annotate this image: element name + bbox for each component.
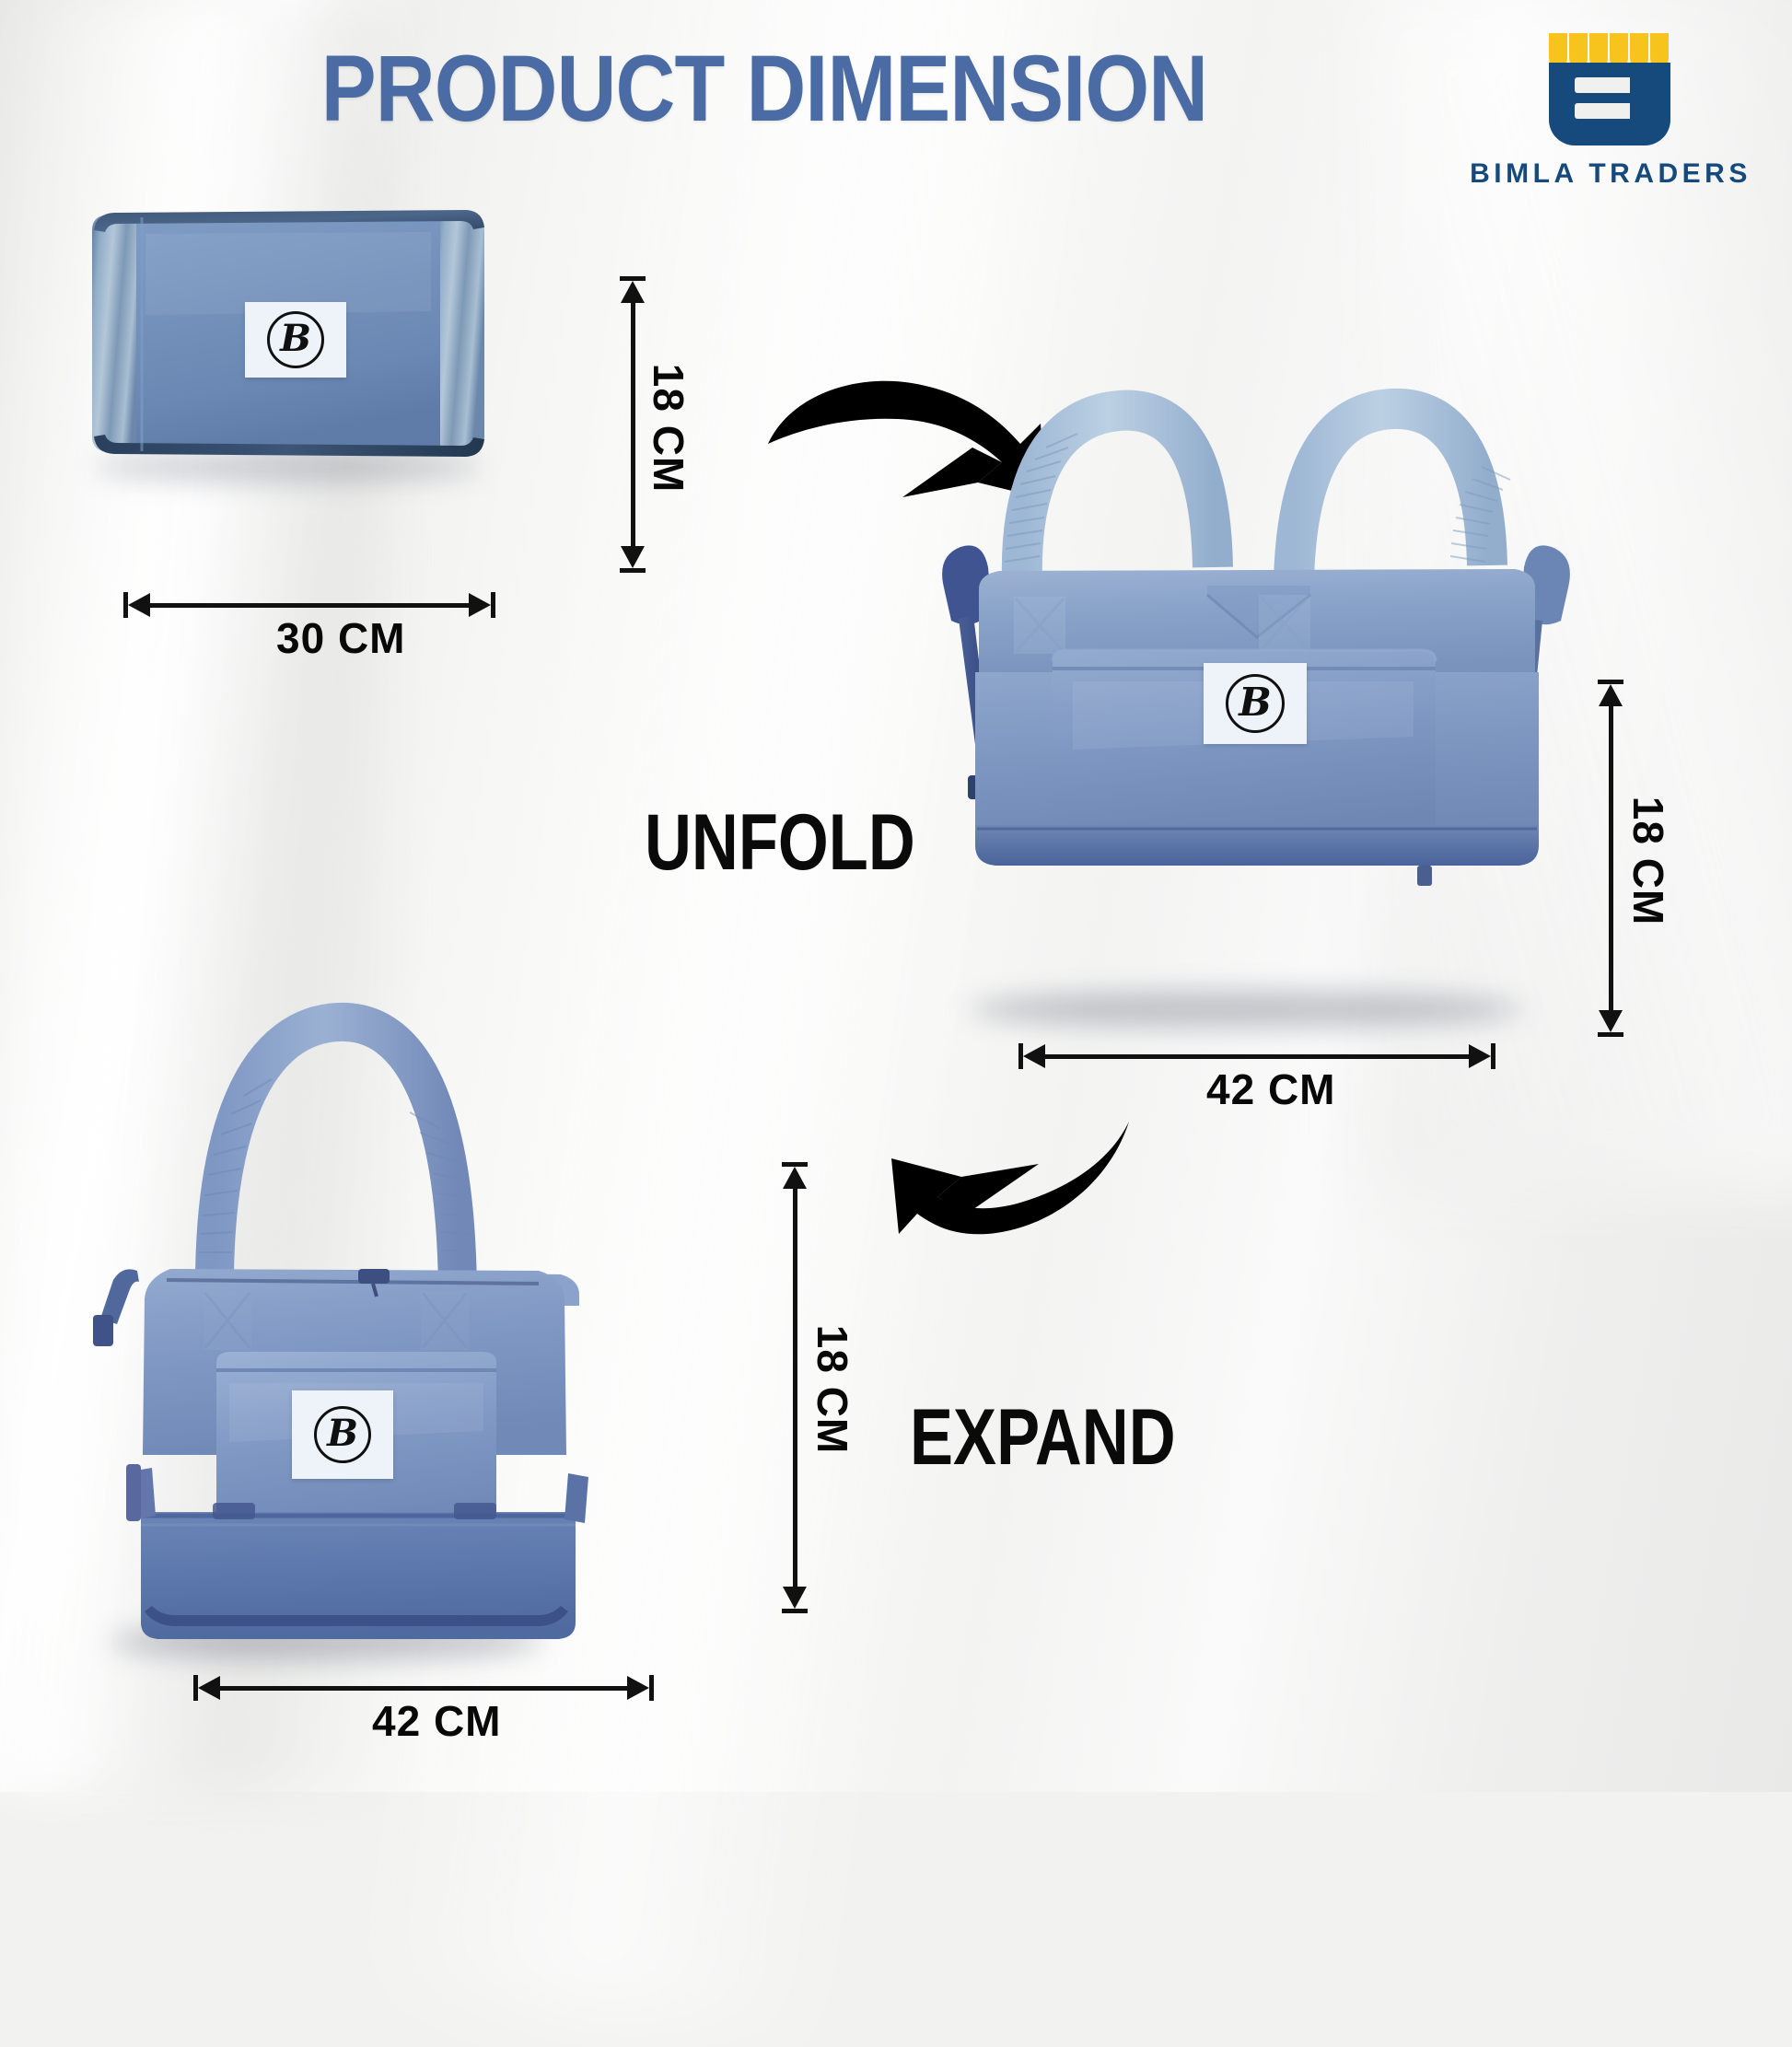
dimension-line-folded-height (619, 276, 646, 573)
brand-label-patch: B (292, 1390, 393, 1479)
label-monogram: B (1239, 683, 1272, 722)
brand-name: BIMLA TRADERS (1470, 158, 1751, 190)
dim-cap-right (1491, 1043, 1495, 1069)
dim-arrowhead-bottom (783, 1587, 807, 1609)
dim-bar (220, 1686, 627, 1691)
dim-arrowhead-bottom (621, 546, 645, 568)
dim-arrowhead-right (627, 1676, 649, 1700)
step-label-unfold: UNFOLD (645, 797, 915, 889)
dimension-label-tote-height: 18 CM (808, 1307, 857, 1472)
dim-cap-right (491, 592, 495, 618)
storefront-icon (1542, 24, 1680, 147)
page-title: PRODUCT DIMENSION (92, 35, 1437, 143)
dimension-label-folded-height: 18 CM (644, 345, 693, 511)
dim-arrowhead-bottom (1599, 1010, 1623, 1032)
brand-logo: BIMLA TRADERS (1468, 24, 1753, 190)
dim-cap-bottom (620, 568, 646, 573)
dim-cap-right (649, 1675, 654, 1701)
dim-bar (150, 603, 469, 608)
dim-cap-bottom (782, 1609, 808, 1613)
dimension-label-duffel-width: 42 CM (1206, 1064, 1335, 1114)
product-unfolded-duffel: B (935, 368, 1579, 1031)
dimension-label-tote-width: 42 CM (372, 1696, 501, 1746)
label-circle: B (267, 311, 324, 368)
product-folded-bag: B (81, 210, 495, 477)
dimension-line-tote-height (781, 1162, 809, 1613)
dimension-line-duffel-height (1597, 680, 1624, 1037)
dim-arrowhead-top (1599, 684, 1623, 706)
dim-arrowhead-top (621, 281, 645, 303)
dimension-label-folded-width: 30 CM (276, 613, 405, 663)
brand-label-patch: B (1204, 663, 1307, 744)
dim-arrowhead-left (1023, 1044, 1045, 1068)
step-label-expand: EXPAND (910, 1392, 1176, 1483)
dim-bar (793, 1189, 797, 1587)
dim-arrowhead-left (198, 1676, 220, 1700)
label-monogram: B (327, 1415, 358, 1452)
dim-arrowhead-left (128, 593, 150, 617)
dim-arrowhead-top (783, 1167, 807, 1189)
brand-label-patch: B (245, 302, 346, 378)
label-circle: B (1226, 674, 1285, 733)
dim-arrowhead-right (469, 593, 491, 617)
dim-bar (1045, 1054, 1469, 1059)
dim-bar (1609, 706, 1613, 1010)
label-circle: B (314, 1406, 371, 1463)
dim-cap-bottom (1598, 1032, 1623, 1037)
dimension-label-duffel-height: 18 CM (1623, 778, 1673, 944)
arrow-expand-icon (829, 1096, 1133, 1289)
product-expanded-tote: B (41, 930, 631, 1667)
dim-bar (631, 303, 635, 546)
dim-arrowhead-right (1469, 1044, 1491, 1068)
label-monogram: B (280, 320, 311, 357)
